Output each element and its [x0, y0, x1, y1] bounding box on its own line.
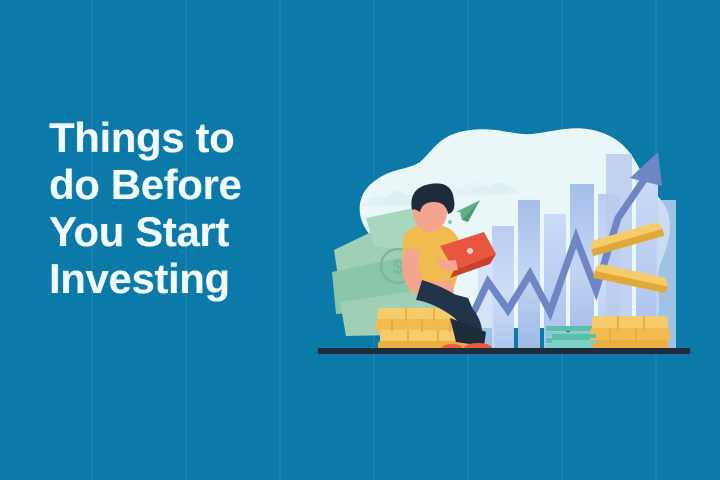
- headline-line-1: Things to: [49, 114, 309, 161]
- headline-line-2: do Before: [49, 161, 309, 208]
- page-title: Things to do Before You Start Investing: [49, 114, 309, 302]
- svg-text:$: $: [392, 257, 403, 279]
- banner-canvas: Things to do Before You Start Investing: [0, 0, 720, 480]
- headline-line-3: You Start: [49, 208, 309, 255]
- ground-line: [318, 348, 690, 354]
- investing-growth-illustration: $: [318, 122, 690, 354]
- headline-line-4: Investing: [49, 255, 309, 302]
